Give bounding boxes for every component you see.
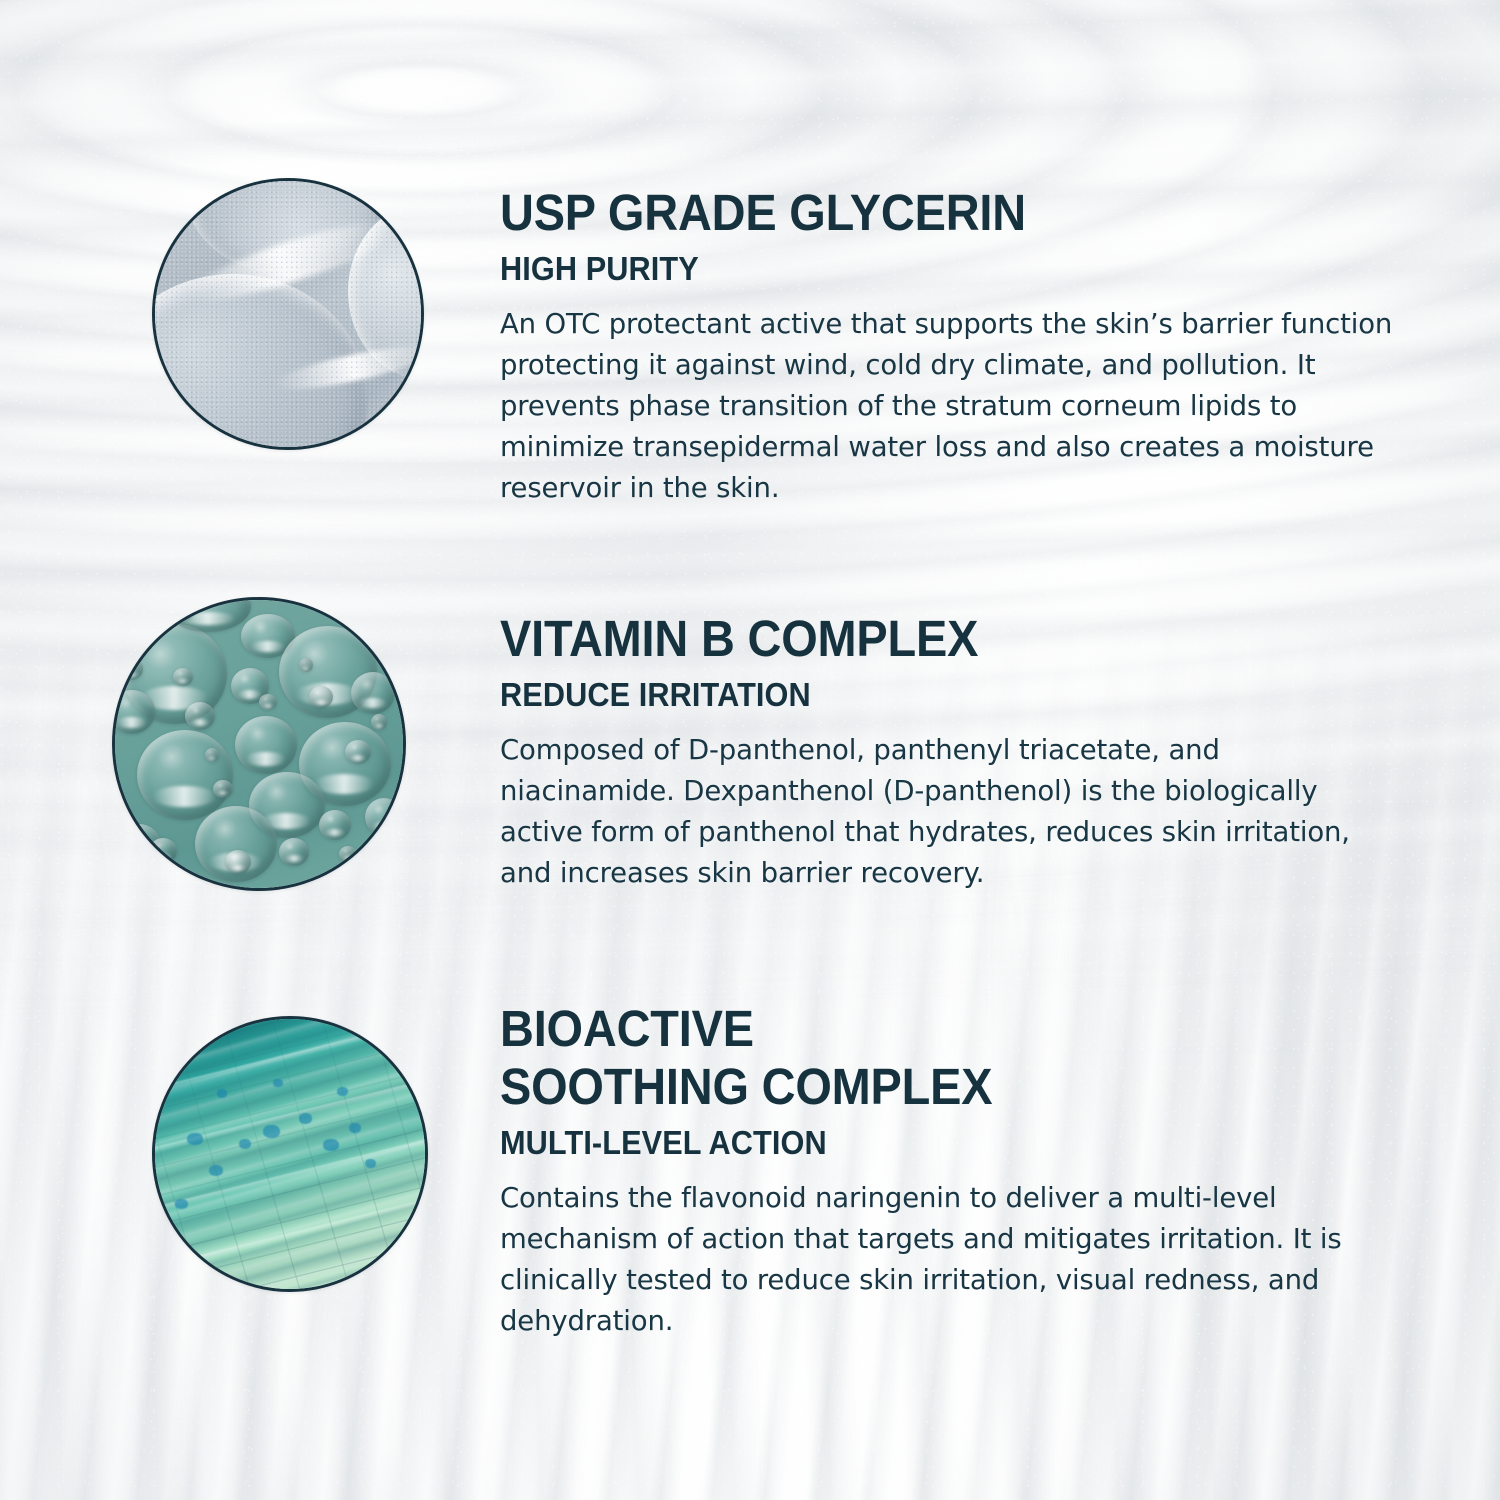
grain-overlay	[153, 179, 423, 449]
bubbles-artwork	[113, 598, 405, 890]
stain-dot	[365, 1159, 376, 1168]
bioactive-tissue-image	[152, 1016, 428, 1292]
bubble	[351, 672, 395, 714]
section-heading: USP GRADE GLYCERIN	[500, 184, 1328, 242]
bubble	[259, 694, 277, 710]
section-subheading: REDUCE IRRITATION	[500, 674, 1337, 716]
tissue-artwork	[153, 1017, 427, 1291]
bubble	[119, 658, 143, 680]
bubble	[345, 740, 371, 764]
bubble	[137, 730, 233, 820]
bubble	[299, 658, 313, 672]
bubble	[112, 690, 155, 734]
bubble	[175, 604, 193, 620]
ingredient-benefits-infographic: USP GRADE GLYCERIN HIGH PURITY An OTC pr…	[0, 0, 1500, 1500]
section-heading: VITAMIN B COMPLEX	[500, 610, 1328, 668]
bubble	[371, 714, 387, 730]
section-heading: BIOACTIVE SOOTHING COMPLEX	[500, 1000, 1328, 1116]
section-body: Composed of D-panthenol, panthenyl triac…	[500, 730, 1400, 894]
section-subheading: HIGH PURITY	[500, 248, 1337, 290]
stain-dot	[187, 1133, 203, 1145]
stain-dot	[323, 1139, 339, 1151]
bubble	[309, 686, 333, 708]
bubble	[213, 780, 233, 798]
section-text-bioactive: BIOACTIVE SOOTHING COMPLEX MULTI-LEVEL A…	[500, 1000, 1400, 1342]
bubble	[173, 668, 193, 686]
bubble	[365, 798, 403, 836]
bubble	[235, 716, 297, 774]
glycerin-artwork	[153, 179, 423, 449]
section-body: An OTC protectant active that supports t…	[500, 304, 1400, 509]
section-body: Contains the flavonoid naringenin to del…	[500, 1178, 1400, 1342]
section-subheading: MULTI-LEVEL ACTION	[500, 1122, 1337, 1164]
tissue-stain-dots	[153, 1017, 427, 1291]
stain-dot	[263, 1125, 280, 1138]
stain-dot	[337, 1087, 348, 1096]
vitamin-b-bubbles-image	[112, 597, 406, 891]
glycerin-droplets-image	[152, 178, 424, 450]
stain-dot	[239, 1139, 251, 1149]
bubble	[205, 748, 219, 762]
bubble	[185, 702, 215, 730]
stain-dot	[273, 1079, 283, 1087]
bubble	[225, 850, 251, 874]
bubble	[149, 838, 177, 864]
stain-dot	[175, 1199, 188, 1209]
content-layer: USP GRADE GLYCERIN HIGH PURITY An OTC pr…	[0, 0, 1500, 1500]
bubble	[339, 846, 357, 862]
section-text-glycerin: USP GRADE GLYCERIN HIGH PURITY An OTC pr…	[500, 184, 1400, 509]
stain-dot	[217, 1089, 227, 1098]
bubble	[319, 810, 351, 840]
stain-dot	[209, 1165, 223, 1176]
bubble	[279, 838, 309, 866]
stain-dot	[349, 1123, 361, 1133]
stain-dot	[299, 1113, 312, 1124]
section-text-vitamin-b: VITAMIN B COMPLEX REDUCE IRRITATION Comp…	[500, 610, 1400, 894]
